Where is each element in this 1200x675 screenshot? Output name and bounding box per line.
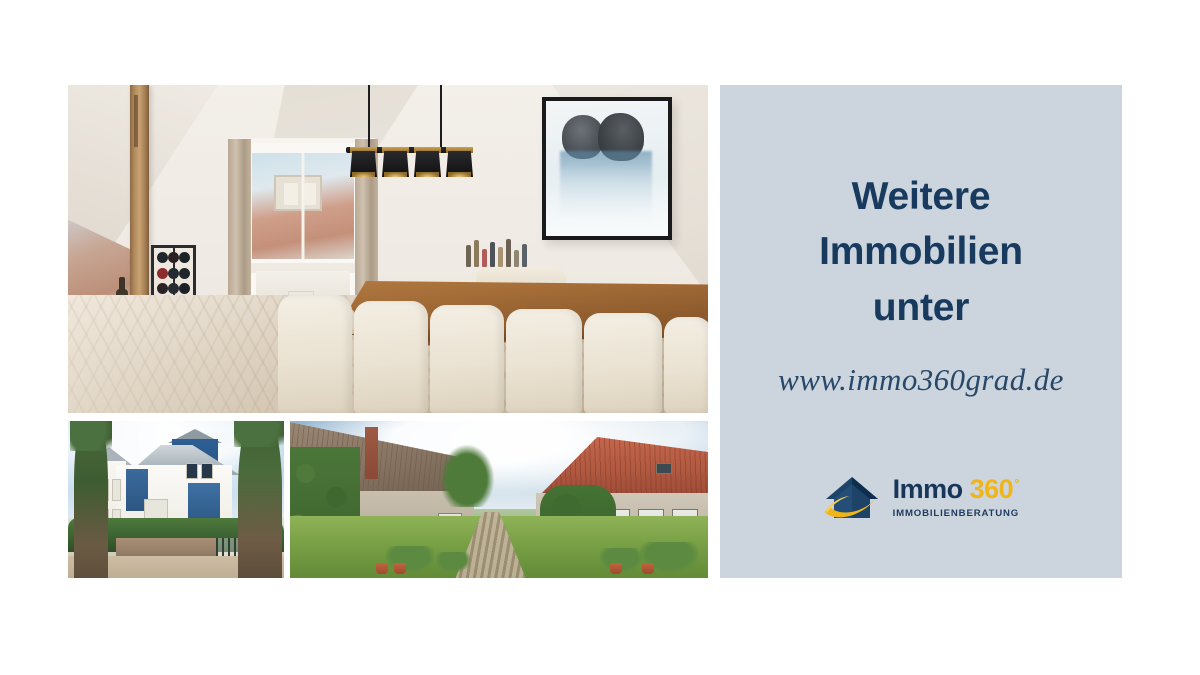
bush-2 xyxy=(436,552,470,572)
chair-1 xyxy=(278,295,352,413)
lamp-shade-3 xyxy=(414,151,441,177)
chair-3 xyxy=(430,305,504,413)
logo-word-row: Immo 360 ° xyxy=(893,476,1020,503)
villa-window-2 xyxy=(112,479,121,501)
website-url[interactable]: www.immo360grad.de xyxy=(778,362,1064,398)
chair-2 xyxy=(354,301,428,413)
chair-5 xyxy=(584,313,662,413)
villa-tower-window-2 xyxy=(201,463,213,479)
opposite-building xyxy=(274,175,322,211)
interior-scene xyxy=(68,85,708,413)
lamp-shade-4 xyxy=(446,151,473,177)
headline-line-2: Immobilien xyxy=(720,224,1122,279)
lamp-cord-2 xyxy=(440,85,442,147)
logo-brand-secondary: 360 xyxy=(970,476,1014,503)
garden-scene xyxy=(290,421,708,578)
window-mullion xyxy=(302,153,305,259)
logo-degree-symbol: ° xyxy=(1014,477,1019,490)
tree-canopy-left xyxy=(70,421,112,451)
lamp-shade-2 xyxy=(382,151,409,177)
lamp-shade-1 xyxy=(350,151,377,177)
garden-cottages-photo xyxy=(290,421,708,578)
tree-middle xyxy=(440,445,494,507)
tree-right xyxy=(238,421,282,578)
cta-panel: Weitere Immobilien unter www.immo360grad… xyxy=(720,85,1122,578)
page-title: Weitere Immobilien unter xyxy=(720,169,1122,335)
promo-canvas: Weitere Immobilien unter www.immo360grad… xyxy=(0,0,1200,675)
chair-6 xyxy=(664,317,708,413)
chimney xyxy=(365,427,378,479)
attic-dining-room-photo xyxy=(68,85,708,413)
tree-canopy-right xyxy=(234,421,284,447)
lamp-cord-1 xyxy=(368,85,370,147)
logo-brand-primary: Immo xyxy=(893,476,963,503)
headline-line-3: unter xyxy=(720,280,1122,335)
flower-pot-2 xyxy=(394,563,406,574)
artwork-mist xyxy=(546,164,668,236)
flower-pot-4 xyxy=(610,563,622,574)
flower-pot-1 xyxy=(376,563,388,574)
logo-wordmark: Immo 360 ° IMMOBILIENBERATUNG xyxy=(893,474,1020,521)
villa-scene xyxy=(68,421,284,578)
villa-blue-panel xyxy=(188,483,220,519)
photo-collage xyxy=(68,85,708,578)
headline-line-1: Weitere xyxy=(720,169,1122,224)
house-swoosh-icon xyxy=(823,472,881,522)
chair-4 xyxy=(506,309,582,413)
framed-artwork xyxy=(542,97,672,240)
logo-tagline: IMMOBILIENBERATUNG xyxy=(893,508,1020,519)
villa-tower-window-1 xyxy=(186,463,198,479)
blue-white-villa-photo xyxy=(68,421,284,578)
flower-pot-3 xyxy=(642,563,654,574)
cottage-right-skylight xyxy=(656,463,672,474)
tree-left xyxy=(74,421,108,578)
brand-logo[interactable]: Immo 360 ° IMMOBILIENBERATUNG xyxy=(823,472,1020,522)
console-bottles xyxy=(464,237,530,267)
